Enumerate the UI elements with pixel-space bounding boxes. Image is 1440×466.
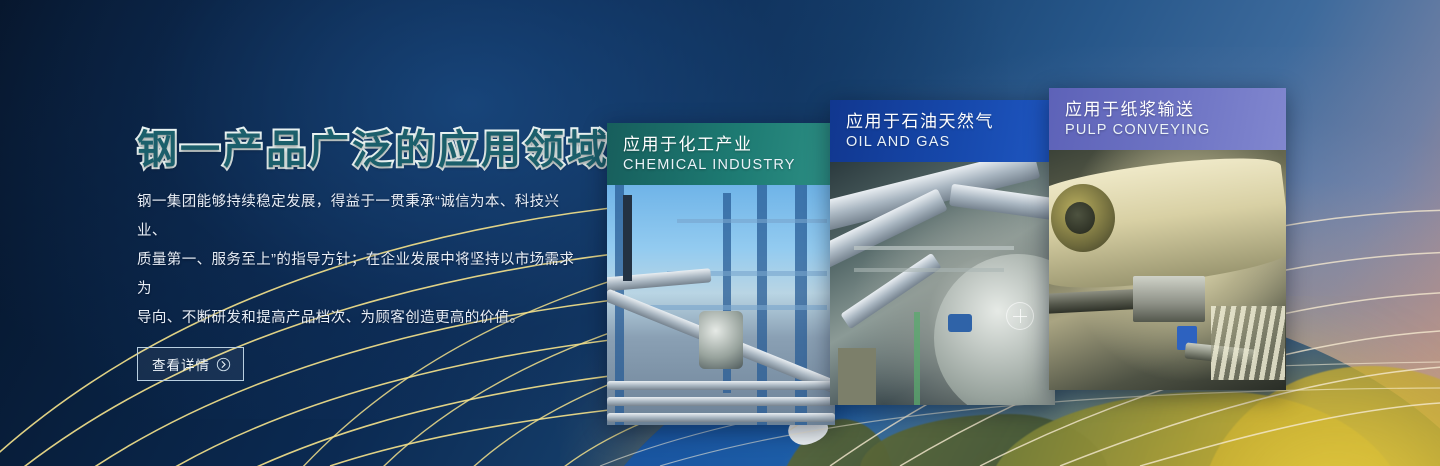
card-header: 应用于纸浆输送 PULP CONVEYING — [1049, 88, 1286, 150]
card-oil-and-gas[interactable]: 应用于石油天然气 OIL AND GAS — [830, 100, 1055, 405]
card-header: 应用于石油天然气 OIL AND GAS — [830, 100, 1055, 162]
card-photo-oil-gas-piping — [830, 162, 1055, 405]
card-title-cn: 应用于石油天然气 — [846, 111, 1039, 132]
card-title-cn: 应用于化工产业 — [623, 134, 819, 155]
view-details-button[interactable]: 查看详情 — [137, 347, 244, 381]
banner-description: 钢一集团能够持续稳定发展，得益于一贯秉承“诚信为本、科技兴业、 质量第一、服务至… — [137, 188, 589, 333]
view-details-label: 查看详情 — [152, 354, 210, 374]
description-line-2: 质量第一、服务至上”的指导方针；在企业发展中将坚持以市场需求为 — [137, 246, 589, 304]
card-title-cn: 应用于纸浆输送 — [1065, 99, 1270, 120]
banner-copy-block: 钢一产品广泛的应用领域 钢一集团能够持续稳定发展，得益于一贯秉承“诚信为本、科技… — [137, 129, 607, 381]
description-line-3: 导向、不断研发和提高产品档次、为顾客创造更高的价值。 — [137, 304, 589, 333]
card-photo-paper-mill-roller — [1049, 150, 1286, 390]
page-title: 钢一产品广泛的应用领域 — [137, 129, 607, 172]
photo-texture — [607, 185, 835, 425]
application-fields-banner: 钢一产品广泛的应用领域 钢一集团能够持续稳定发展，得益于一贯秉承“诚信为本、科技… — [0, 0, 1440, 466]
card-title-en: CHEMICAL INDUSTRY — [623, 157, 819, 173]
chevron-right-circle-icon — [216, 357, 231, 372]
card-header: 应用于化工产业 CHEMICAL INDUSTRY — [607, 123, 835, 185]
card-title-en: PULP CONVEYING — [1065, 122, 1270, 138]
card-title-en: OIL AND GAS — [846, 134, 1039, 150]
card-chemical-industry[interactable]: 应用于化工产业 CHEMICAL INDUSTRY — [607, 123, 835, 425]
description-line-1: 钢一集团能够持续稳定发展，得益于一贯秉承“诚信为本、科技兴业、 — [137, 188, 589, 246]
card-pulp-conveying[interactable]: 应用于纸浆输送 PULP CONVEYING — [1049, 88, 1286, 390]
photo-texture — [1049, 150, 1286, 390]
card-photo-chemical-plant — [607, 185, 835, 425]
photo-texture — [830, 162, 1055, 405]
